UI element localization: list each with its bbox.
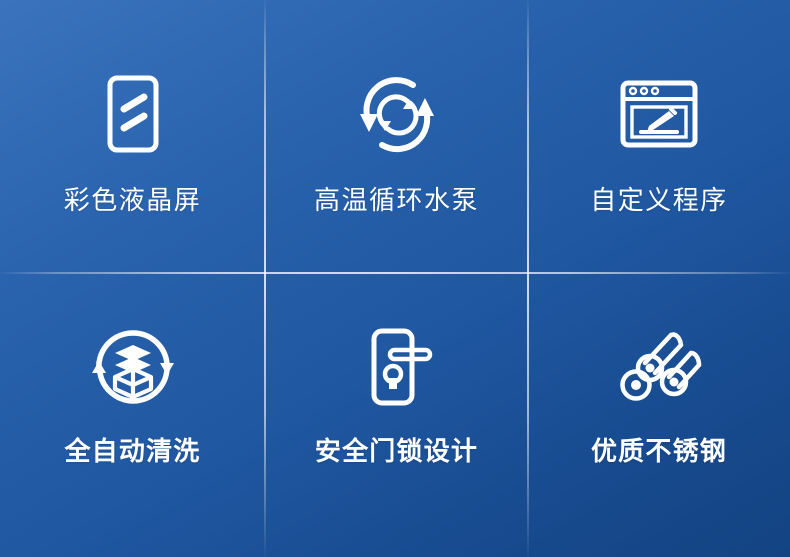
feature-cell-custom-program[interactable]: 自定义程序 — [528, 0, 790, 273]
steel-pipes-icon — [611, 319, 707, 415]
feature-cell-color-lcd-screen[interactable]: 彩色液晶屏 — [0, 0, 265, 273]
feature-label: 高温循环水泵 — [314, 186, 479, 215]
circulation-arrows-icon — [349, 66, 445, 162]
feature-label: 彩色液晶屏 — [64, 186, 202, 215]
lcd-screen-icon — [85, 66, 181, 162]
feature-label: 自定义程序 — [590, 186, 728, 215]
window-pencil-icon — [611, 66, 707, 162]
feature-cell-high-temp-circulation-pump[interactable]: 高温循环水泵 — [265, 0, 528, 273]
feature-cell-premium-stainless-steel[interactable]: 优质不锈钢 — [528, 273, 790, 557]
feature-grid: 彩色液晶屏 高温循环水泵 — [0, 0, 790, 557]
cube-refresh-icon — [85, 319, 181, 415]
door-lock-icon — [349, 319, 445, 415]
feature-label: 安全门锁设计 — [315, 437, 478, 466]
feature-cell-safety-door-lock-design[interactable]: 安全门锁设计 — [265, 273, 528, 557]
feature-cell-fully-automatic-cleaning[interactable]: 全自动清洗 — [0, 273, 265, 557]
feature-label: 全自动清洗 — [64, 437, 200, 466]
feature-label: 优质不锈钢 — [591, 437, 727, 466]
